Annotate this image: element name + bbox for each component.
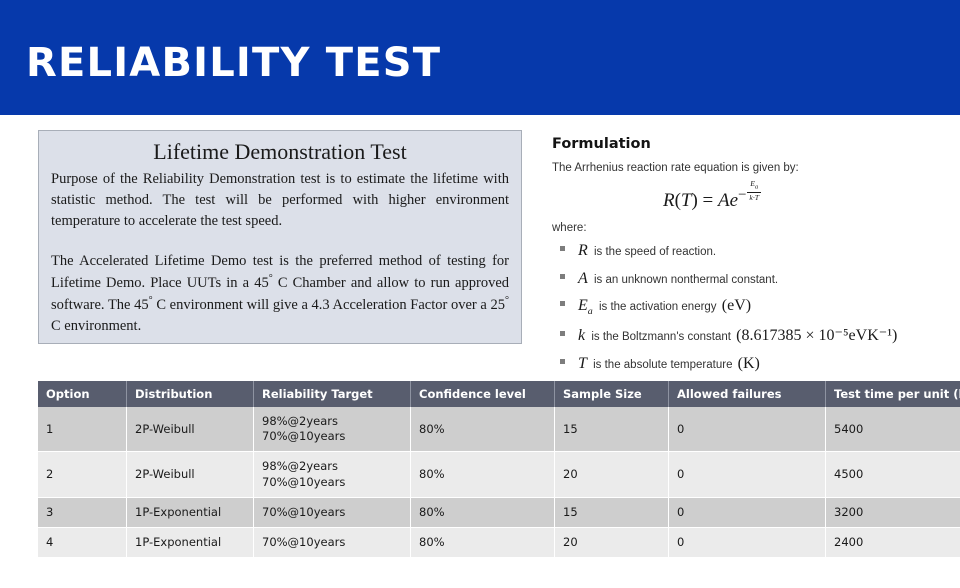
list-item: A is an unknown nonthermal constant.: [560, 268, 942, 290]
definition-text: is the activation energy: [599, 301, 717, 313]
left-panel-paragraph-2: The Accelerated Lifetime Demo test is th…: [51, 251, 509, 337]
definition-text: is the absolute temperature: [593, 359, 732, 371]
square-bullet-icon: [560, 246, 565, 251]
cell-reliability-target: 70%@10years: [254, 497, 411, 527]
definition-symbol: T: [578, 355, 587, 372]
cell-confidence-level: 80%: [411, 497, 555, 527]
paragraph-2-segment-3: C environment will give a 4.3 Accelerati…: [153, 297, 505, 313]
definition-symbol: Ea: [578, 297, 593, 314]
cell-distribution: 1P-Exponential: [127, 497, 254, 527]
cell-option: 2: [38, 452, 127, 497]
cell-confidence-level: 80%: [411, 452, 555, 497]
table-row[interactable]: 1 2P-Weibull 98%@2years 70%@10years 80% …: [38, 407, 960, 452]
table-row[interactable]: 2 2P-Weibull 98%@2years 70%@10years 80% …: [38, 452, 960, 497]
numerator-subscript: a: [755, 184, 758, 191]
definition-symbol-subscript: a: [588, 307, 593, 318]
list-item: k is the Boltzmann's constant (8.617385 …: [560, 325, 942, 347]
definition-symbol: k: [578, 327, 585, 344]
cell-distribution: 1P-Exponential: [127, 527, 254, 557]
cell-confidence-level: 80%: [411, 527, 555, 557]
equation-symbol-r: R: [663, 190, 675, 211]
paragraph-2-segment-4: C environment.: [51, 318, 141, 334]
formulation-lead-text: The Arrhenius reaction rate equation is …: [552, 162, 942, 174]
square-bullet-icon: [560, 274, 565, 279]
table-header: Option Distribution Reliability Target C…: [38, 381, 960, 407]
equation-fraction-numerator: Ea: [747, 180, 761, 193]
equation-symbol-e: e: [730, 190, 738, 211]
cell-distribution: 2P-Weibull: [127, 452, 254, 497]
column-header-option[interactable]: Option: [38, 381, 127, 407]
table-row[interactable]: 4 1P-Exponential 70%@10years 80% 20 0 24…: [38, 527, 960, 557]
list-item: T is the absolute temperature (K): [560, 353, 942, 375]
cell-allowed-failures: 0: [669, 497, 826, 527]
square-bullet-icon: [560, 301, 565, 306]
left-panel-title: Lifetime Demonstration Test: [51, 139, 509, 165]
table-row[interactable]: 3 1P-Exponential 70%@10years 80% 15 0 32…: [38, 497, 960, 527]
column-header-test-time-per-unit[interactable]: Test time per unit (hr): [826, 381, 960, 407]
equation-symbol-t: T: [681, 190, 692, 211]
arrhenius-equation: R(T) = Ae−Eak·T: [552, 180, 942, 212]
cell-test-time-per-unit: 5400: [826, 407, 960, 452]
where-label: where:: [552, 222, 942, 234]
definition-text: is the speed of reaction.: [594, 246, 716, 258]
cell-test-time-per-unit: 4500: [826, 452, 960, 497]
degree-icon: °: [505, 295, 509, 306]
list-item: R is the speed of reaction.: [560, 240, 942, 262]
definition-symbol-base: E: [578, 297, 588, 314]
definition-unit: (8.617385 × 10⁻⁵eVK⁻¹): [736, 327, 897, 344]
cell-reliability-target: 98%@2years 70%@10years: [254, 407, 411, 452]
title-banner: RELIABILITY TEST: [0, 0, 960, 115]
cell-allowed-failures: 0: [669, 407, 826, 452]
page-title: RELIABILITY TEST: [26, 40, 441, 86]
definition-symbol: A: [578, 270, 588, 287]
equation-paren-close: ): [691, 190, 697, 211]
cell-option: 1: [38, 407, 127, 452]
cell-option: 3: [38, 497, 127, 527]
table-body: 1 2P-Weibull 98%@2years 70%@10years 80% …: [38, 407, 960, 558]
cell-sample-size: 15: [555, 407, 669, 452]
slide-root: RELIABILITY TEST Lifetime Demonstration …: [0, 0, 960, 588]
equation-symbol-a: A: [718, 190, 730, 211]
equation-minus: −: [738, 187, 746, 203]
cell-confidence-level: 80%: [411, 407, 555, 452]
cell-allowed-failures: 0: [669, 452, 826, 497]
cell-allowed-failures: 0: [669, 527, 826, 557]
formulation-panel: Formulation The Arrhenius reaction rate …: [552, 136, 942, 380]
equation-fraction: Eak·T: [747, 180, 761, 202]
list-item: Ea is the activation energy (eV): [560, 295, 942, 319]
square-bullet-icon: [560, 331, 565, 336]
formulation-title: Formulation: [552, 136, 942, 152]
definition-text: is an unknown nonthermal constant.: [594, 274, 778, 286]
symbol-definition-list: R is the speed of reaction. A is an unkn…: [552, 240, 942, 374]
definition-unit: (K): [738, 355, 760, 372]
column-header-allowed-failures[interactable]: Allowed failures: [669, 381, 826, 407]
square-bullet-icon: [560, 359, 565, 364]
column-header-sample-size[interactable]: Sample Size: [555, 381, 669, 407]
cell-sample-size: 15: [555, 497, 669, 527]
cell-sample-size: 20: [555, 452, 669, 497]
column-header-confidence-level[interactable]: Confidence level: [411, 381, 555, 407]
equation-exponent: −Eak·T: [738, 187, 761, 203]
lifetime-demonstration-panel: Lifetime Demonstration Test Purpose of t…: [38, 130, 522, 344]
definition-text: is the Boltzmann's constant: [591, 331, 731, 343]
cell-reliability-target: 70%@10years: [254, 527, 411, 557]
definition-symbol: R: [578, 242, 588, 259]
left-panel-paragraph-1: Purpose of the Reliability Demonstration…: [51, 169, 509, 232]
cell-reliability-target: 98%@2years 70%@10years: [254, 452, 411, 497]
test-options-table: Option Distribution Reliability Target C…: [38, 381, 960, 558]
column-header-distribution[interactable]: Distribution: [127, 381, 254, 407]
cell-sample-size: 20: [555, 527, 669, 557]
cell-test-time-per-unit: 3200: [826, 497, 960, 527]
cell-option: 4: [38, 527, 127, 557]
equation-equals: =: [703, 190, 714, 211]
equation-fraction-denominator: k·T: [747, 193, 761, 202]
column-header-reliability-target[interactable]: Reliability Target: [254, 381, 411, 407]
cell-test-time-per-unit: 2400: [826, 527, 960, 557]
cell-distribution: 2P-Weibull: [127, 407, 254, 452]
table-header-row: Option Distribution Reliability Target C…: [38, 381, 960, 407]
definition-unit: (eV): [722, 297, 751, 314]
